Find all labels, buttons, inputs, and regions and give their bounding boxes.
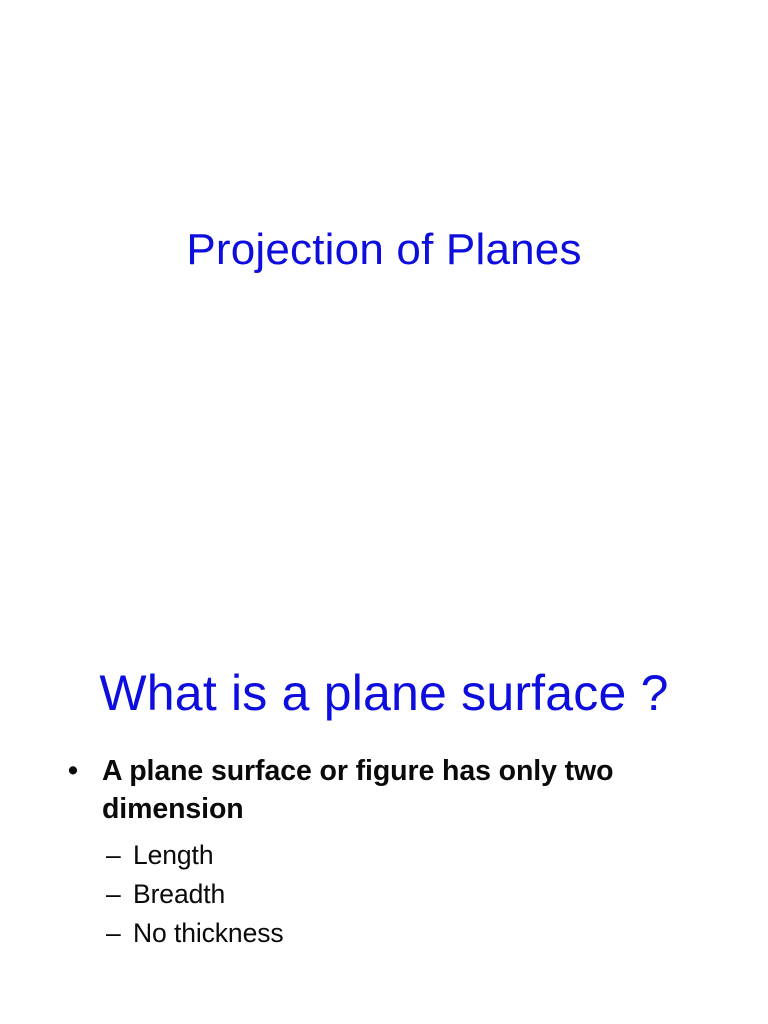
body-content: • A plane surface or figure has only two… bbox=[0, 752, 768, 953]
bullet-marker-icon: • bbox=[68, 752, 78, 790]
sub-list-item: – Length bbox=[0, 836, 768, 875]
sub-list-item: – No thickness bbox=[0, 914, 768, 953]
sub-list-item: – Breadth bbox=[0, 875, 768, 914]
dash-marker-icon: – bbox=[106, 875, 121, 914]
dash-marker-icon: – bbox=[106, 914, 121, 953]
dash-marker-icon: – bbox=[106, 836, 121, 875]
sub-list-item-label: Breadth bbox=[133, 879, 225, 909]
list-item-label: A plane surface or figure has only two d… bbox=[102, 755, 613, 825]
sub-list: – Length – Breadth – No thickness bbox=[0, 836, 768, 953]
slide-canvas: Projection of Planes What is a plane sur… bbox=[0, 0, 768, 1024]
page-title: Projection of Planes bbox=[0, 224, 768, 276]
sub-list-item-label: Length bbox=[133, 840, 213, 870]
list-item: • A plane surface or figure has only two… bbox=[0, 752, 768, 828]
sub-list-item-label: No thickness bbox=[133, 918, 284, 948]
section-heading: What is a plane surface ? bbox=[0, 664, 768, 722]
